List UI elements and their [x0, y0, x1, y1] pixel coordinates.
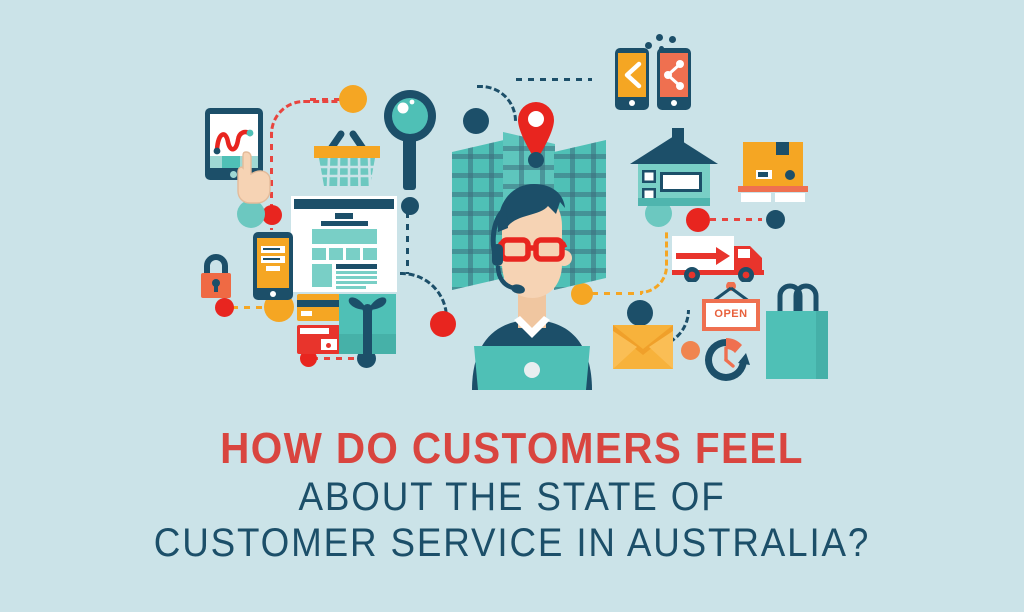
open-sign-label: OPEN — [706, 307, 756, 322]
padlock-icon — [196, 252, 236, 300]
browser-text-line-3 — [336, 281, 377, 284]
browser-thumb-2 — [329, 248, 343, 260]
browser-thumb-4 — [363, 248, 377, 260]
browser-text-line-2 — [336, 276, 377, 279]
connector-dot-navy-rightcluster — [766, 210, 785, 229]
connector-dot-orange-top — [339, 85, 367, 113]
connector-dashed-vert-center — [406, 212, 409, 274]
browser-titlebar — [294, 199, 394, 209]
magnifier-icon — [384, 88, 438, 192]
headline-line-1: HOW DO CUSTOMERS FEEL — [41, 424, 983, 474]
connector-dashed-curve-right — [640, 232, 668, 294]
envelope-icon — [613, 325, 673, 369]
open-sign-icon: OPEN — [700, 282, 762, 334]
storefront-icon — [628, 128, 720, 208]
connector-dot-small-3 — [669, 36, 676, 43]
share-nodes-icon — [664, 59, 686, 91]
back-arrow-icon — [622, 60, 643, 90]
connector-dashed-horiz-cards — [312, 357, 360, 360]
browser-text-line-1 — [336, 271, 377, 274]
tablet-chart-icon — [205, 108, 263, 180]
customer-service-agent — [452, 180, 612, 390]
pointing-hand-icon — [232, 148, 276, 204]
connector-dot-navy-envelope — [627, 300, 653, 326]
gift-box-icon — [339, 294, 396, 354]
connector-dot-red-lowerleft — [215, 298, 234, 317]
credit-card-icon — [297, 294, 340, 321]
connector-dot-teal-left — [237, 200, 265, 228]
connector-dashed-horiz-rightcluster — [710, 218, 762, 221]
connector-dot-red-rightcluster — [686, 208, 710, 232]
wallet-icon — [297, 325, 340, 354]
browser-sidebar-block — [312, 264, 332, 287]
browser-nav-bar — [321, 221, 368, 226]
browser-article-heading — [336, 264, 377, 269]
shopping-basket-icon — [308, 128, 386, 190]
connector-dot-small-2 — [656, 34, 663, 41]
browser-thumb-3 — [346, 248, 360, 260]
mobile-home-button — [270, 291, 276, 297]
browser-window-icon — [291, 196, 397, 292]
infographic-canvas: OPEN HOW DO CUSTOMERS FEEL ABOU — [0, 0, 1024, 612]
package-box-icon — [738, 142, 808, 204]
share-phones-icon — [615, 48, 691, 110]
connector-dot-navy-centerleft — [401, 197, 419, 215]
shopping-bag-icon — [762, 278, 832, 380]
connector-dot-red-midleft — [262, 205, 282, 225]
delivery-truck-icon — [672, 232, 770, 282]
browser-logo-block — [335, 213, 353, 219]
browser-text-line-4 — [336, 286, 366, 289]
connector-dashed-horiz-topcenter — [516, 78, 592, 81]
map-pin-base-dot — [528, 152, 544, 168]
mobile-login-icon — [253, 232, 293, 300]
browser-thumb-1 — [312, 248, 326, 260]
mobile-submit-button — [266, 266, 280, 271]
clock-icon — [702, 336, 750, 384]
connector-dot-orange-envelope — [681, 341, 700, 360]
browser-hero-banner — [312, 229, 377, 244]
headline-line-3: CUSTOMER SERVICE IN AUSTRALIA? — [41, 520, 983, 566]
headline-block: HOW DO CUSTOMERS FEEL ABOUT THE STATE OF… — [0, 424, 1024, 566]
headline-line-2: ABOUT THE STATE OF — [41, 474, 983, 520]
